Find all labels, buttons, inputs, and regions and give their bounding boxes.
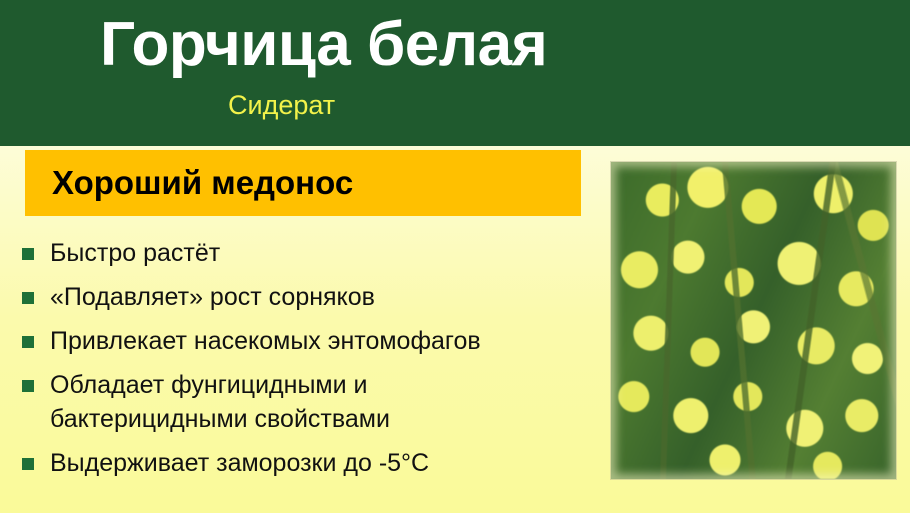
list-item: Обладает фунгицидными и бактерицидными с… — [18, 368, 618, 436]
list-item-label: Выдерживает заморозки до -5°C — [50, 446, 618, 480]
page-subtitle: Сидерат — [228, 89, 335, 121]
square-bullet-icon — [22, 380, 34, 392]
square-bullet-icon — [22, 248, 34, 260]
square-bullet-icon — [22, 336, 34, 348]
list-item: Выдерживает заморозки до -5°C — [18, 446, 618, 480]
list-item: «Подавляет» рост сорняков — [18, 280, 618, 314]
square-bullet-icon — [22, 458, 34, 470]
photo-soft-edge — [611, 162, 896, 479]
list-item-label: «Подавляет» рост сорняков — [50, 280, 618, 314]
list-item-label: Привлекает насекомых энтомофагов — [50, 324, 618, 358]
feature-bullet-list: Быстро растёт «Подавляет» рост сорняков … — [18, 236, 618, 490]
list-item-label: Быстро растёт — [50, 236, 618, 270]
highlight-banner-label: Хороший медонос — [52, 162, 353, 204]
list-item: Быстро растёт — [18, 236, 618, 270]
header-band: Горчица белая Сидерат — [0, 0, 910, 146]
list-item-label: Обладает фунгицидными и бактерицидными с… — [50, 368, 618, 436]
slide-root: Горчица белая Сидерат Хороший медонос Бы… — [0, 0, 910, 513]
list-item: Привлекает насекомых энтомофагов — [18, 324, 618, 358]
square-bullet-icon — [22, 292, 34, 304]
mustard-flowers-photo — [611, 162, 896, 479]
page-title: Горчица белая — [100, 9, 800, 81]
highlight-banner: Хороший медонос — [25, 150, 581, 216]
